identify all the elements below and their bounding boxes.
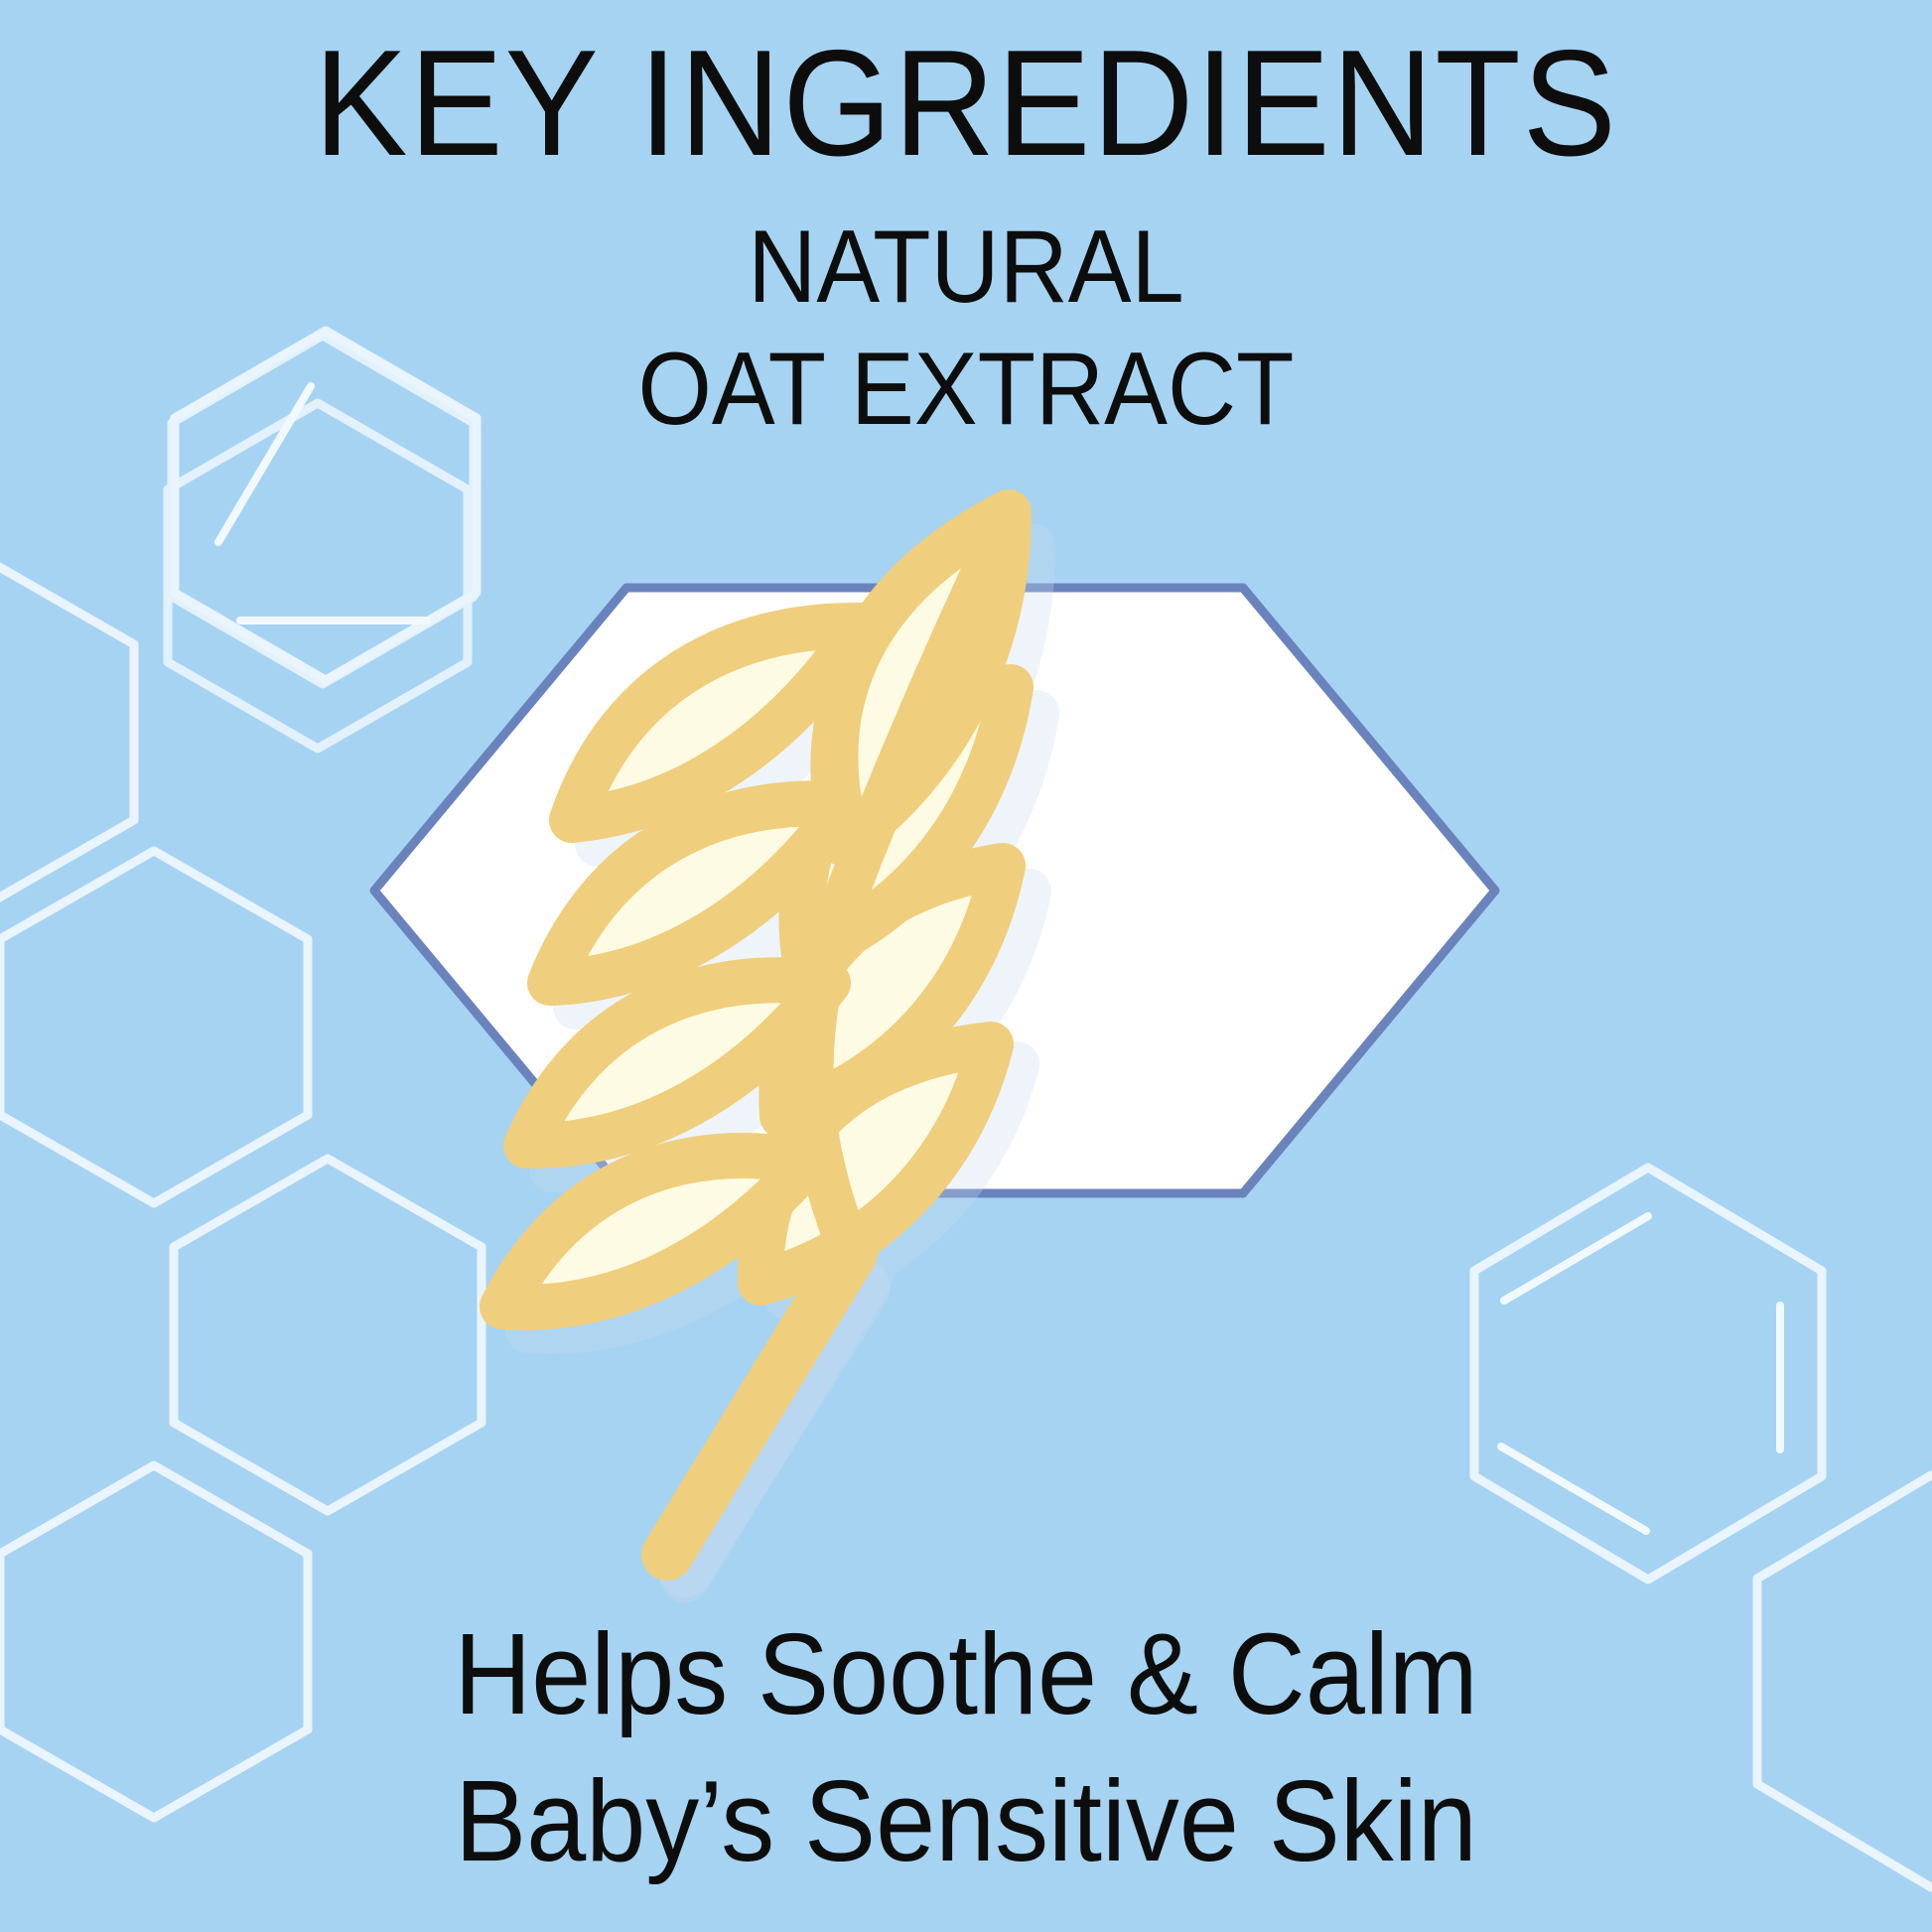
key-ingredients-poster: KEY INGREDIENTS NATURAL OAT EXTRACT — [0, 0, 1932, 1932]
tagline-line-2: Baby’s Sensitive Skin — [68, 1747, 1864, 1894]
tagline: Helps Soothe & Calm Baby’s Sensitive Ski… — [68, 1600, 1864, 1895]
tagline-line-1: Helps Soothe & Calm — [68, 1600, 1864, 1747]
